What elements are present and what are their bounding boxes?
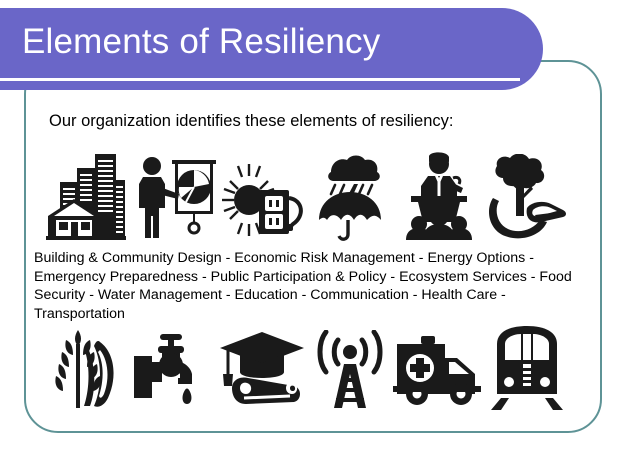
icon-cell-public-participation-policy [395, 148, 483, 242]
faucet-water-drop-icon [134, 334, 216, 410]
icon-cell-food-security [44, 322, 131, 410]
icon-row-top [44, 148, 570, 242]
elements-paragraph: Building & Community Design - Economic R… [34, 249, 574, 323]
title-underline-rule [0, 78, 520, 81]
wheat-corn-icon [48, 326, 128, 410]
tree-in-hand-icon [483, 154, 569, 242]
intro-text: Our organization identifies these elemen… [49, 112, 453, 131]
train-icon [487, 326, 567, 410]
page-title: Elements of Resiliency [22, 20, 380, 64]
icon-cell-health-care [393, 322, 483, 410]
icon-cell-education [218, 322, 306, 410]
icon-cell-water-management [131, 322, 218, 410]
icon-cell-communication [306, 322, 393, 410]
title-banner: Elements of Resiliency [0, 8, 543, 90]
ambulance-icon [393, 336, 483, 410]
icon-cell-building-community-design [44, 148, 132, 242]
graduation-cap-diploma-icon [218, 330, 306, 410]
icon-cell-transportation [483, 322, 570, 410]
icon-cell-emergency-preparedness [307, 148, 395, 242]
icon-cell-ecosystem-services [482, 148, 570, 242]
umbrella-storm-icon [315, 154, 387, 242]
sun-power-outlet-icon [221, 162, 305, 242]
icon-cell-economic-risk-management [132, 148, 220, 242]
presenter-pie-chart-icon [135, 154, 217, 242]
podium-speaker-audience-icon [401, 152, 477, 242]
icon-row-bottom [44, 322, 570, 410]
broadcast-antenna-icon [314, 330, 386, 410]
presentation-slide: Elements of Resiliency Our organization … [0, 0, 632, 474]
buildings-house-icon [46, 152, 130, 242]
icon-cell-energy-options [219, 148, 307, 242]
